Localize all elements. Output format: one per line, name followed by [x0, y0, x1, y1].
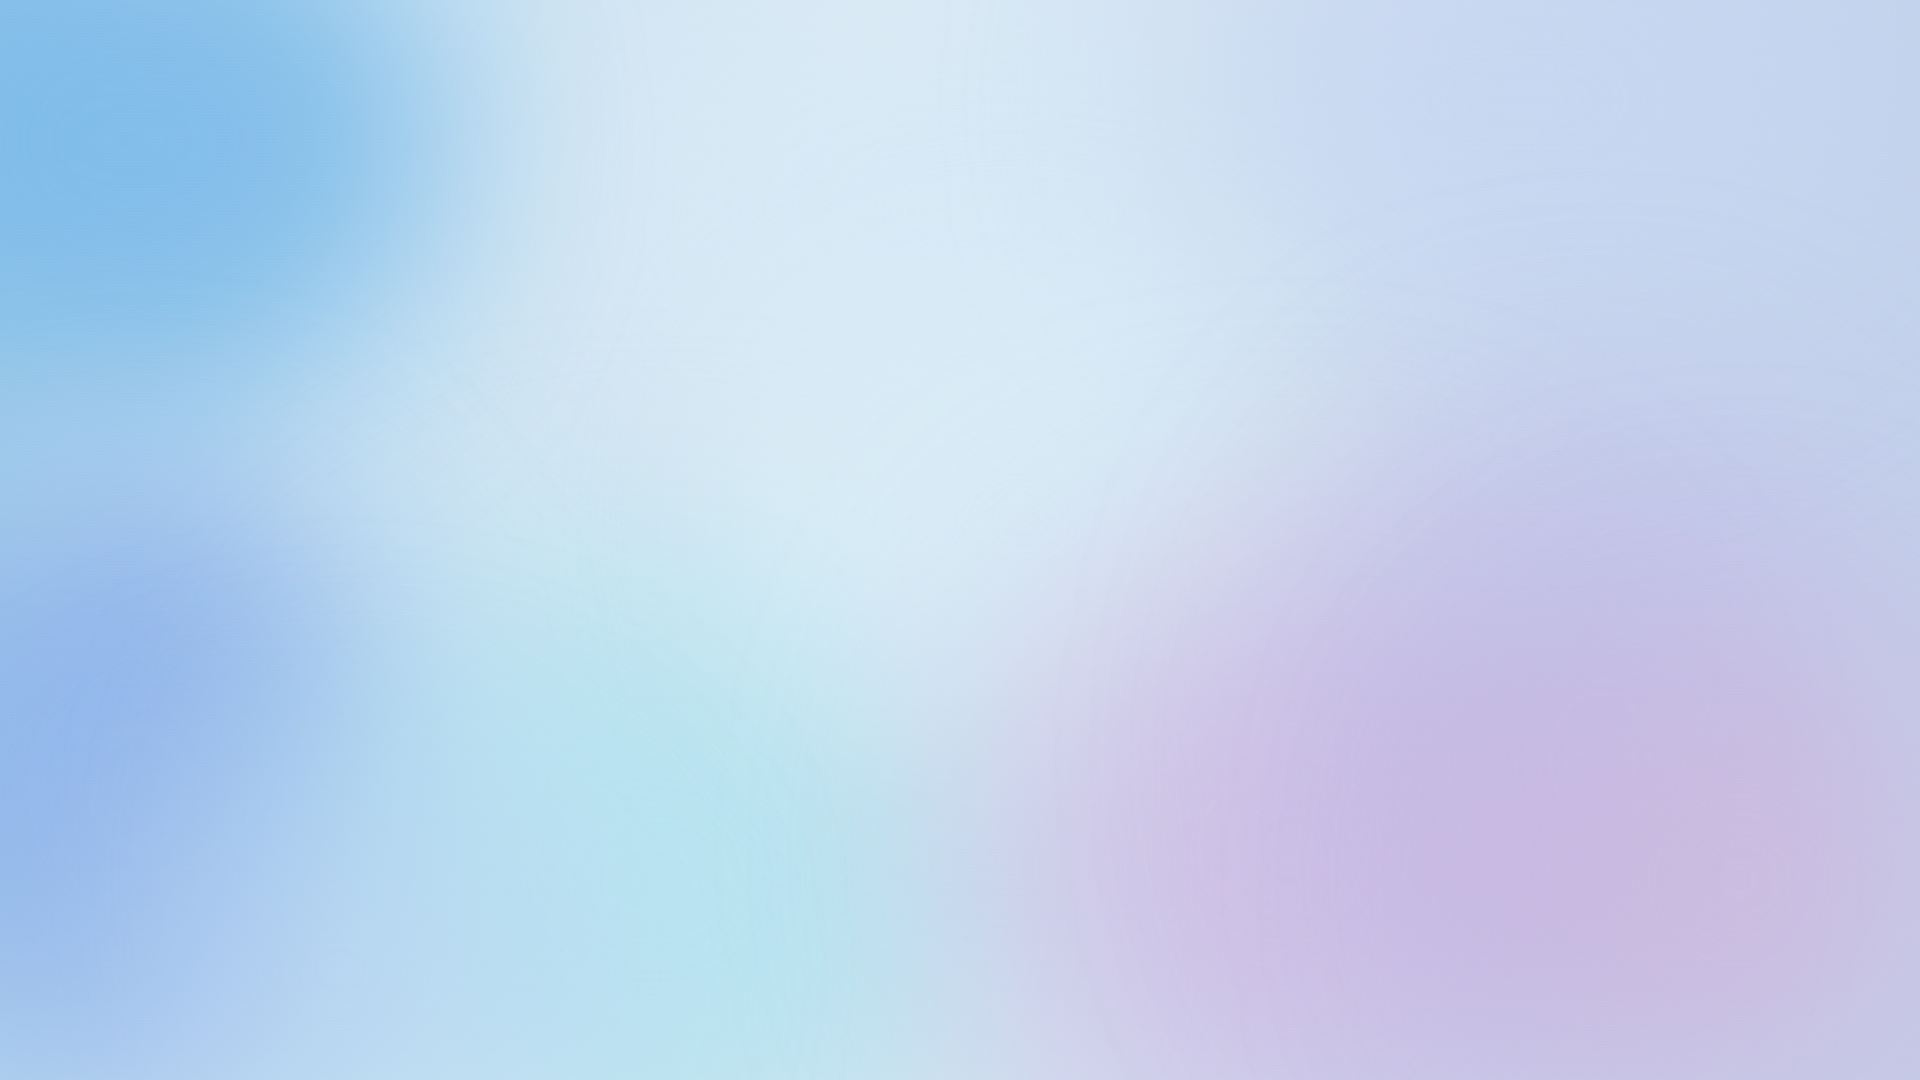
process-stage-band [88, 366, 1848, 466]
process-flow-infographic [0, 0, 1920, 1080]
